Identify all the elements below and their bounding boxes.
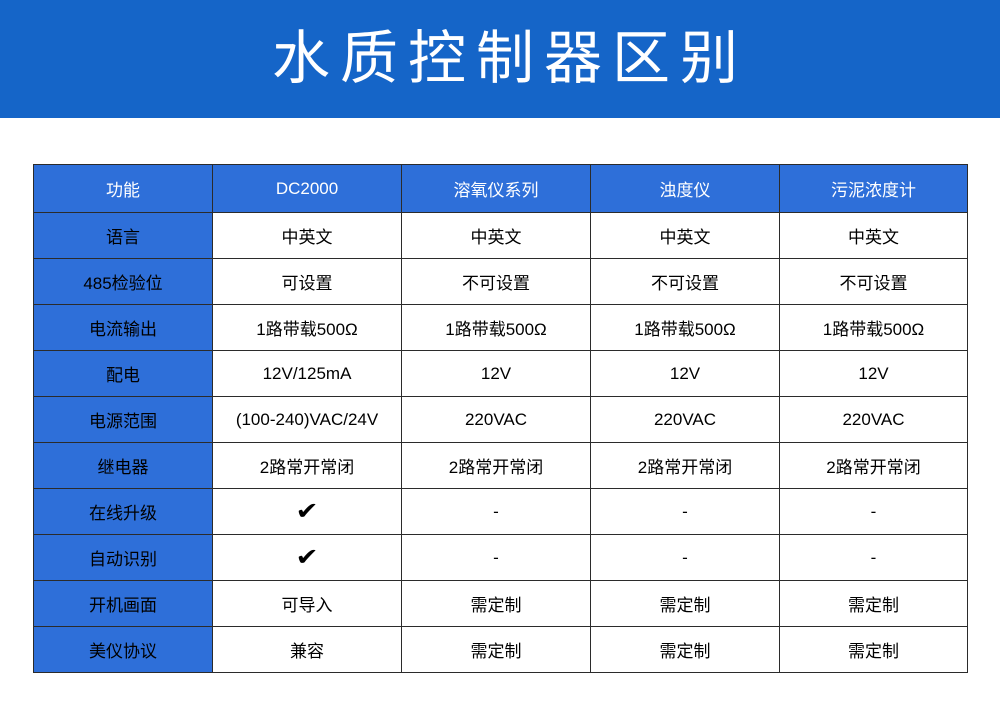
- row-header: 在线升级: [34, 489, 213, 535]
- table-cell: -: [402, 489, 591, 535]
- table-cell: ✔: [213, 535, 402, 581]
- cell-value: 1路带载500Ω: [634, 320, 736, 339]
- cell-value: 220VAC: [654, 410, 716, 429]
- table-cell: 12V/125mA: [213, 351, 402, 397]
- cell-value: 需定制: [471, 642, 522, 661]
- table-cell: 可导入: [213, 581, 402, 627]
- column-header-feature: 功能: [34, 165, 213, 213]
- cell-value: 1路带载500Ω: [256, 320, 358, 339]
- table-cell: 需定制: [402, 627, 591, 673]
- comparison-table: 功能 DC2000 溶氧仪系列 浊度仪 污泥浓度计 语言中英文中英文中英文中英文…: [33, 164, 968, 673]
- cell-value: 220VAC: [465, 410, 527, 429]
- cell-value: 2路常开常闭: [826, 458, 920, 477]
- table-row: 485检验位可设置不可设置不可设置不可设置: [34, 259, 968, 305]
- table-cell: 需定制: [591, 581, 780, 627]
- table-row: 美仪协议兼容需定制需定制需定制: [34, 627, 968, 673]
- table-container: 功能 DC2000 溶氧仪系列 浊度仪 污泥浓度计 语言中英文中英文中英文中英文…: [0, 118, 1000, 673]
- row-header: 自动识别: [34, 535, 213, 581]
- table-cell: 2路常开常闭: [780, 443, 968, 489]
- dash-placeholder: -: [493, 502, 499, 521]
- table-cell: 不可设置: [402, 259, 591, 305]
- table-row: 电源范围(100-240)VAC/24V220VAC220VAC220VAC: [34, 397, 968, 443]
- table-cell: 220VAC: [591, 397, 780, 443]
- cell-value: (100-240)VAC/24V: [236, 410, 378, 429]
- table-row: 在线升级✔---: [34, 489, 968, 535]
- column-header-sludge: 污泥浓度计: [780, 165, 968, 213]
- table-cell: 中英文: [591, 213, 780, 259]
- table-cell: 2路常开常闭: [213, 443, 402, 489]
- table-cell: 可设置: [213, 259, 402, 305]
- page-banner: 水质控制器区别: [0, 0, 1000, 118]
- table-cell: 1路带载500Ω: [402, 305, 591, 351]
- page-title: 水质控制器区别: [252, 30, 748, 88]
- table-cell: 需定制: [780, 627, 968, 673]
- table-cell: 不可设置: [591, 259, 780, 305]
- table-cell: 兼容: [213, 627, 402, 673]
- table-cell: 1路带载500Ω: [780, 305, 968, 351]
- cell-value: 需定制: [660, 642, 711, 661]
- dash-placeholder: -: [682, 502, 688, 521]
- table-cell: 1路带载500Ω: [213, 305, 402, 351]
- row-header: 继电器: [34, 443, 213, 489]
- row-header: 电源范围: [34, 397, 213, 443]
- table-cell: -: [780, 535, 968, 581]
- dash-placeholder: -: [871, 548, 877, 567]
- cell-value: 中英文: [848, 228, 899, 247]
- row-header: 配电: [34, 351, 213, 397]
- cell-value: 不可设置: [651, 274, 719, 293]
- table-cell: -: [591, 535, 780, 581]
- table-cell: 1路带载500Ω: [591, 305, 780, 351]
- table-cell: 需定制: [591, 627, 780, 673]
- table-row: 继电器2路常开常闭2路常开常闭2路常开常闭2路常开常闭: [34, 443, 968, 489]
- table-cell: -: [402, 535, 591, 581]
- dash-placeholder: -: [493, 548, 499, 567]
- table-row: 语言中英文中英文中英文中英文: [34, 213, 968, 259]
- table-row: 电流输出1路带载500Ω1路带载500Ω1路带载500Ω1路带载500Ω: [34, 305, 968, 351]
- cell-value: 12V: [670, 364, 700, 383]
- row-header: 美仪协议: [34, 627, 213, 673]
- row-header: 语言: [34, 213, 213, 259]
- cell-value: 12V: [858, 364, 888, 383]
- table-cell: 2路常开常闭: [591, 443, 780, 489]
- table-cell: 220VAC: [780, 397, 968, 443]
- cell-value: 可导入: [282, 596, 333, 615]
- cell-value: 需定制: [471, 596, 522, 615]
- table-cell: 不可设置: [780, 259, 968, 305]
- table-header-row: 功能 DC2000 溶氧仪系列 浊度仪 污泥浓度计: [34, 165, 968, 213]
- cell-value: 2路常开常闭: [449, 458, 543, 477]
- row-header: 485检验位: [34, 259, 213, 305]
- dash-placeholder: -: [871, 502, 877, 521]
- table-row: 配电12V/125mA12V12V12V: [34, 351, 968, 397]
- cell-value: 需定制: [848, 596, 899, 615]
- cell-value: 不可设置: [462, 274, 530, 293]
- cell-value: 不可设置: [840, 274, 908, 293]
- cell-value: 需定制: [660, 596, 711, 615]
- cell-value: 兼容: [290, 642, 324, 661]
- cell-value: 12V/125mA: [263, 364, 352, 383]
- table-cell: 220VAC: [402, 397, 591, 443]
- table-cell: 中英文: [402, 213, 591, 259]
- column-header-do-series: 溶氧仪系列: [402, 165, 591, 213]
- table-cell: 需定制: [780, 581, 968, 627]
- cell-value: 2路常开常闭: [638, 458, 732, 477]
- cell-value: 可设置: [282, 274, 333, 293]
- table-cell: 需定制: [402, 581, 591, 627]
- cell-value: 1路带载500Ω: [823, 320, 925, 339]
- cell-value: 中英文: [660, 228, 711, 247]
- table-cell: 中英文: [780, 213, 968, 259]
- column-header-dc2000: DC2000: [213, 165, 402, 213]
- table-cell: 12V: [402, 351, 591, 397]
- table-row: 开机画面可导入需定制需定制需定制: [34, 581, 968, 627]
- table-cell: ✔: [213, 489, 402, 535]
- table-cell: (100-240)VAC/24V: [213, 397, 402, 443]
- table-cell: 12V: [591, 351, 780, 397]
- cell-value: 12V: [481, 364, 511, 383]
- table-cell: -: [780, 489, 968, 535]
- column-header-turbidity: 浊度仪: [591, 165, 780, 213]
- check-icon: ✔: [295, 500, 318, 524]
- table-cell: -: [591, 489, 780, 535]
- cell-value: 2路常开常闭: [260, 458, 354, 477]
- cell-value: 1路带载500Ω: [445, 320, 547, 339]
- table-cell: 2路常开常闭: [402, 443, 591, 489]
- table-row: 自动识别✔---: [34, 535, 968, 581]
- table-cell: 12V: [780, 351, 968, 397]
- cell-value: 中英文: [282, 228, 333, 247]
- cell-value: 220VAC: [842, 410, 904, 429]
- table-cell: 中英文: [213, 213, 402, 259]
- check-icon: ✔: [295, 546, 318, 570]
- cell-value: 需定制: [848, 642, 899, 661]
- row-header: 开机画面: [34, 581, 213, 627]
- cell-value: 中英文: [471, 228, 522, 247]
- row-header: 电流输出: [34, 305, 213, 351]
- dash-placeholder: -: [682, 548, 688, 567]
